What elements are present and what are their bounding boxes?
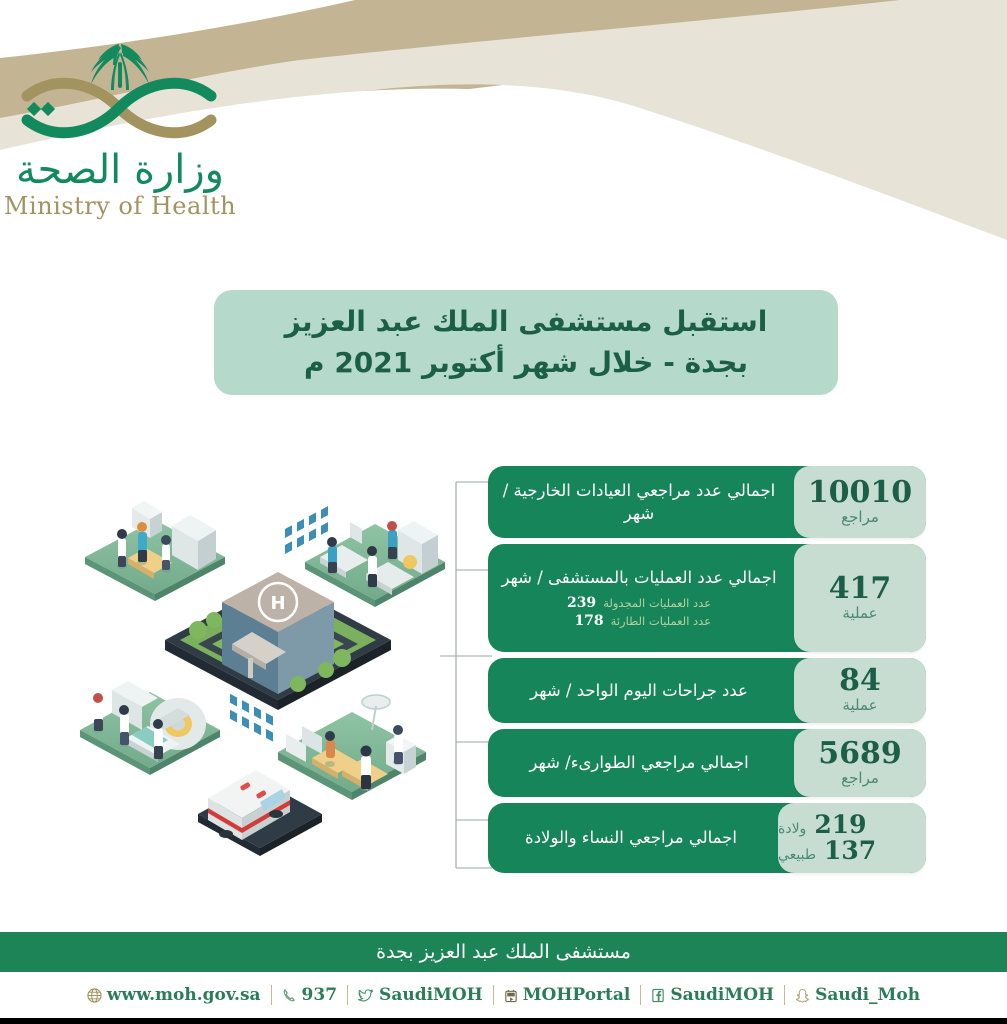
- scene-consultation-room: [305, 521, 445, 607]
- title-banner: استقبل مستشفى الملك عبد العزيز بجدة - خل…: [214, 290, 838, 395]
- footer-link-twitter[interactable]: SaudiMOH: [347, 985, 493, 1005]
- stat-sub-label: عدد العمليات الطارئة: [611, 614, 711, 628]
- stat-unit: مراجع: [841, 769, 879, 788]
- title-line-1: استقبل مستشفى الملك عبد العزيز: [285, 302, 768, 343]
- stat-value: 219: [814, 812, 866, 837]
- ambulance: [198, 770, 322, 856]
- stat-value-line: 219 ولادة: [778, 812, 867, 839]
- isometric-hospital-illustration: H: [80, 462, 475, 882]
- stat-value: 417: [829, 574, 892, 604]
- stat-value-pill: 5689 مراجع: [794, 729, 926, 797]
- youtube-icon: [504, 988, 518, 1003]
- facebook-icon: [651, 988, 665, 1003]
- moh-logo: وزارة الصحة Ministry of Health: [0, 38, 240, 220]
- phone-icon: [282, 988, 297, 1003]
- page-bottom-edge: [0, 1018, 1007, 1024]
- footer-link-snapchat[interactable]: Saudi_Moh: [784, 985, 930, 1005]
- stat-value-pill: 84 عملية: [794, 658, 926, 723]
- stat-value: 137: [824, 838, 876, 863]
- footer-links: www.moh.gov.sa 937 SaudiMOH: [0, 972, 1007, 1021]
- stat-sub-item: عدد العمليات المجدولة 239: [567, 595, 711, 613]
- stat-sub-value: 239: [567, 595, 596, 613]
- stat-value: 84: [839, 666, 881, 696]
- stat-value: 10010: [808, 478, 912, 508]
- footer-hospital-bar: مستشفى الملك عبد العزيز بجدة: [0, 932, 1007, 972]
- stat-unit: مراجع: [841, 508, 879, 527]
- stat-label: اجمالي عدد مراجعي العيادات الخارجية / شه…: [496, 479, 782, 525]
- stat-row-outpatient-visits: 10010 مراجع اجمالي عدد مراجعي العيادات ا…: [488, 466, 926, 538]
- statistics-list: 10010 مراجع اجمالي عدد مراجعي العيادات ا…: [488, 466, 926, 879]
- stat-label: اجمالي عدد العمليات بالمستشفى / شهر: [501, 566, 776, 589]
- infographic-page: وزارة الصحة Ministry of Health استقبل مس…: [0, 0, 1007, 1024]
- stat-sub-label: عدد العمليات المجدولة: [603, 596, 711, 610]
- footer-hospital-name: مستشفى الملك عبد العزيز بجدة: [376, 941, 631, 963]
- stat-row-hospital-operations: 417 عملية اجمالي عدد العمليات بالمستشفى …: [488, 544, 926, 652]
- footer-link-label: SaudiMOH: [670, 985, 774, 1005]
- stat-label: عدد جراحات اليوم الواحد / شهر: [530, 679, 748, 702]
- stat-unit: طبيعي: [778, 847, 816, 865]
- stat-value-line: 137 طبيعي: [778, 838, 876, 865]
- palm-and-swords-icon: [15, 38, 225, 153]
- stat-value-pill: 10010 مراجع: [794, 466, 926, 538]
- footer-link-label: www.moh.gov.sa: [107, 985, 261, 1005]
- scene-operating-icu-room: [278, 695, 426, 800]
- title-line-2: بجدة - خلال شهر أكتوبر 2021 م: [304, 343, 748, 384]
- footer-link-youtube[interactable]: MOHPortal: [493, 985, 641, 1005]
- footer-link-label: SaudiMOH: [379, 985, 483, 1005]
- twitter-icon: [358, 988, 374, 1003]
- stat-label: اجمالي مراجعي النساء والولادة: [525, 826, 737, 849]
- stat-sub-value: 178: [574, 613, 603, 631]
- stat-label: اجمالي مراجعي الطوارىء/ شهر: [529, 751, 748, 774]
- scene-mri-imaging-room: [80, 681, 220, 775]
- stat-row-emergency-visits: 5689 مراجع اجمالي مراجعي الطوارىء/ شهر: [488, 729, 926, 797]
- snapchat-icon: [795, 988, 810, 1003]
- stat-unit: عملية: [842, 604, 877, 623]
- footer-link-website[interactable]: www.moh.gov.sa: [77, 985, 271, 1005]
- stat-value: 5689: [818, 739, 902, 769]
- stat-row-day-surgery: 84 عملية عدد جراحات اليوم الواحد / شهر: [488, 658, 926, 723]
- logo-arabic-text: وزارة الصحة: [0, 149, 240, 191]
- stat-unit: ولادة: [778, 821, 806, 839]
- stat-sub-list: عدد العمليات المجدولة 239 عدد العمليات ا…: [567, 595, 711, 630]
- globe-icon: [87, 988, 102, 1003]
- footer-link-facebook[interactable]: SaudiMOH: [640, 985, 784, 1005]
- scene-examination-room: [85, 501, 225, 601]
- footer-link-phone[interactable]: 937: [271, 985, 348, 1005]
- footer-link-label: MOHPortal: [523, 985, 631, 1005]
- stat-row-obgyn-visits: 219 ولادة 137 طبيعي اجمالي مراجعي النساء…: [488, 803, 926, 873]
- logo-english-text: Ministry of Health: [0, 192, 240, 220]
- stat-sub-item: عدد العمليات الطارئة 178: [574, 613, 711, 631]
- stat-value-pill: 417 عملية: [794, 544, 926, 652]
- stat-value-pill: 219 ولادة 137 طبيعي: [778, 803, 926, 873]
- footer-link-label: 937: [302, 985, 338, 1005]
- footer-link-label: Saudi_Moh: [815, 985, 920, 1005]
- svg-text:H: H: [270, 593, 285, 614]
- stat-unit: عملية: [842, 696, 877, 715]
